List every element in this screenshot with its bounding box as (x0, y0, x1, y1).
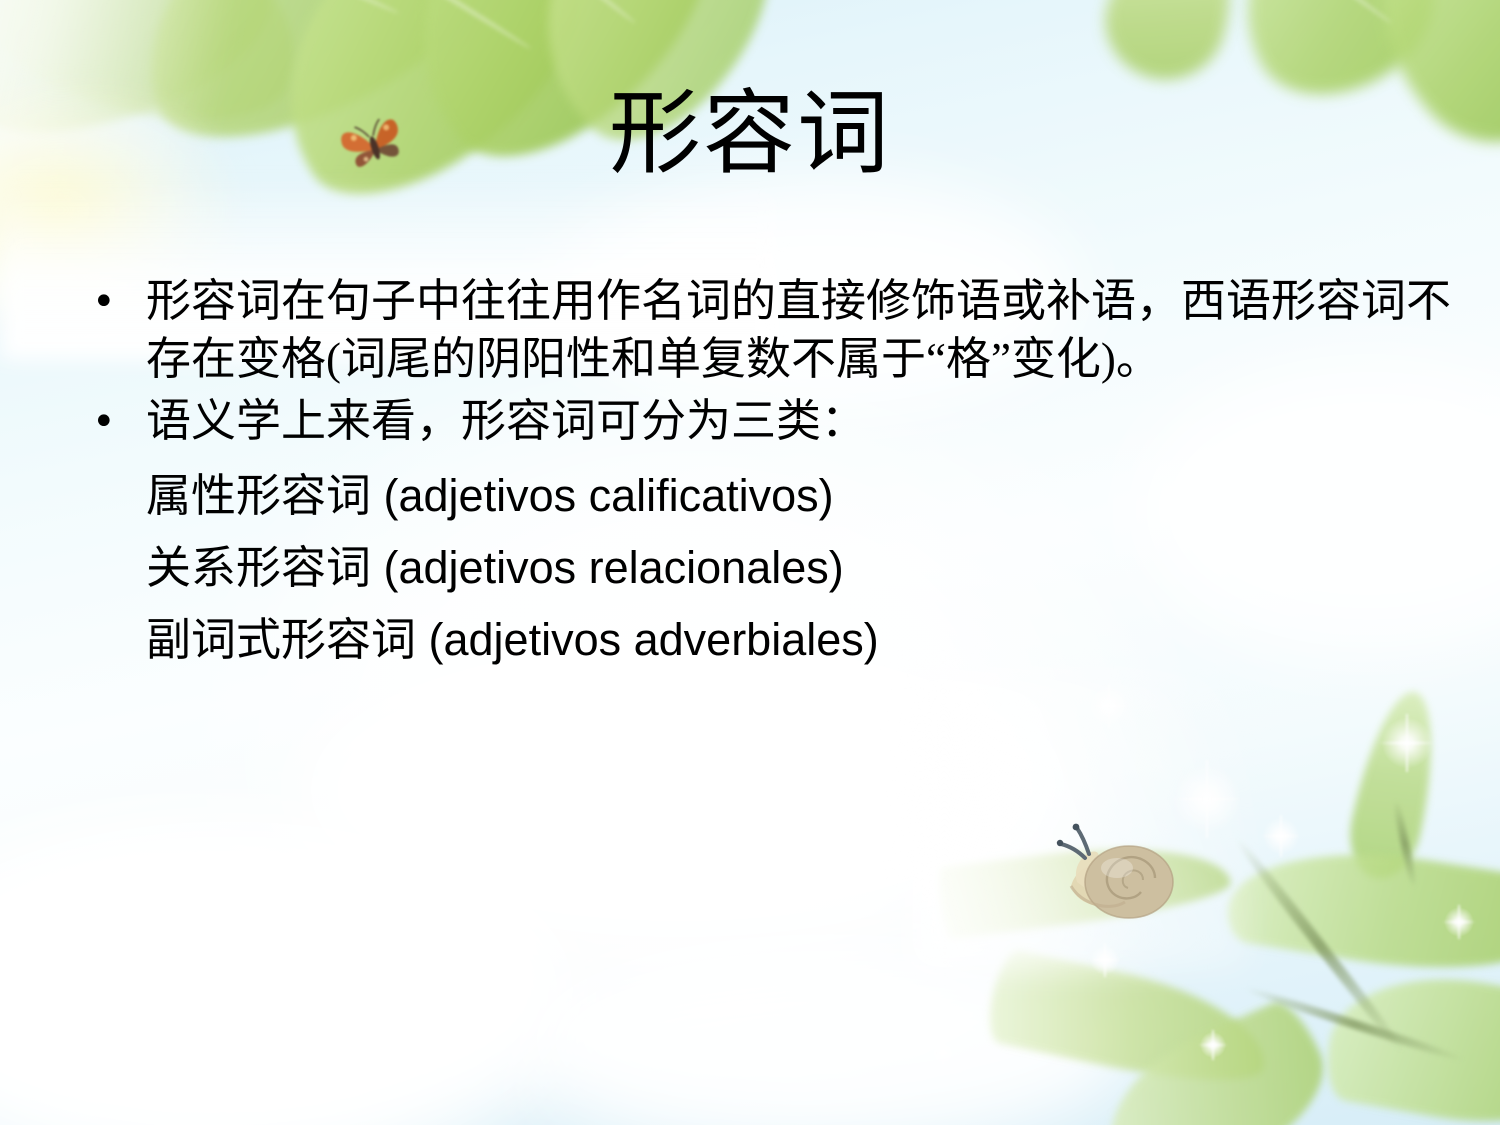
bullet-text: 语义学上来看，形容词可分为三类： (146, 392, 1468, 450)
bullet-text: 形容词在句子中往往用作名词的直接修饰语或补语，西语形容词不存在变格(词尾的阴阳性… (146, 272, 1468, 388)
sub-item-cjk: 关系形容词 (146, 543, 371, 593)
sparkle-icon (1088, 943, 1122, 977)
bullet-marker-icon: • (78, 392, 146, 452)
leaf-vein (318, 0, 533, 51)
sparkle-icon (1086, 683, 1132, 729)
plant-stem (1244, 985, 1466, 1065)
sub-item-list: 属性形容词 (adjetivos calificativos) 关系形容词 (a… (78, 460, 1468, 676)
leaf-icon (983, 947, 1277, 1098)
leaf-icon (1092, 0, 1249, 94)
sub-item: 关系形容词 (adjetivos relacionales) (146, 532, 1468, 604)
sub-item: 属性形容词 (adjetivos calificativos) (146, 460, 1468, 532)
sub-item-cjk: 属性形容词 (146, 471, 371, 521)
sub-item: 副词式形容词 (adjetivos adverbiales) (146, 604, 1468, 676)
bullet-marker-icon: • (78, 272, 146, 332)
sub-item-latin: (adjetivos adverbiales) (416, 614, 879, 665)
sparkle-icon (1260, 815, 1302, 857)
leaf-icon (937, 833, 1234, 940)
sparkle-icon (1168, 760, 1246, 838)
sub-item-latin: (adjetivos calificativos) (371, 470, 834, 521)
plant-stem (1392, 799, 1419, 889)
sparkle-icon (1198, 1030, 1228, 1060)
page-title: 形容词 (0, 86, 1500, 183)
bullet-item: • 形容词在句子中往往用作名词的直接修饰语或补语，西语形容词不存在变格(词尾的阴… (78, 272, 1468, 388)
slide-body: • 形容词在句子中往往用作名词的直接修饰语或补语，西语形容词不存在变格(词尾的阴… (78, 272, 1468, 676)
sparkle-icon (1442, 905, 1476, 939)
sparkle-icon (930, 1040, 956, 1066)
slide-canvas: 形容词 • 形容词在句子中往往用作名词的直接修饰语或补语，西语形容词不存在变格(… (0, 0, 1500, 1125)
plant-stem (1233, 836, 1408, 1056)
leaf-vein (453, 0, 637, 25)
leaf-icon (1320, 958, 1500, 1125)
bullet-item: • 语义学上来看，形容词可分为三类： (78, 392, 1468, 452)
leaf-vein (1277, 0, 1393, 25)
sub-item-latin: (adjetivos relacionales) (371, 542, 844, 593)
cloud-blob-left (0, 820, 580, 1125)
cloud-blob-lower-mid (520, 930, 1140, 1125)
sub-item-cjk: 副词式形容词 (146, 615, 416, 665)
sparkle-icon (1378, 714, 1436, 772)
cloud-blob-center (300, 640, 1060, 940)
leaf-vein (170, 0, 400, 16)
